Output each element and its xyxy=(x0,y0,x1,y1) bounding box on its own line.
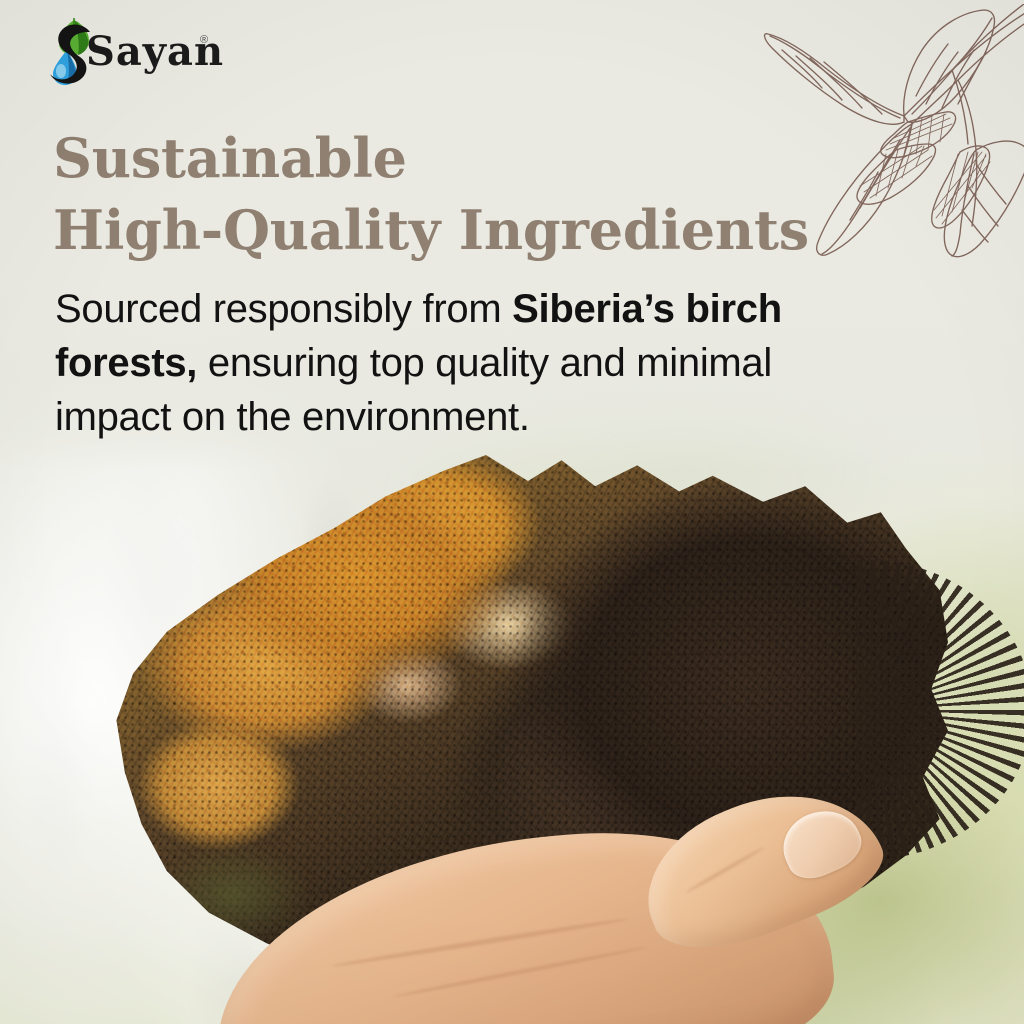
body-text-bold-2: forests, xyxy=(55,341,197,385)
headline-line-1: Sustainable xyxy=(53,122,813,194)
body-text-part-1: Sourced responsibly from xyxy=(55,287,512,331)
body-text-part-2: ensuring top quality and minimal xyxy=(197,341,772,385)
open-hand-icon xyxy=(210,790,950,1024)
promo-card: Sayan ® Sustainable High-Quality Ingredi… xyxy=(0,0,1024,1024)
brand-logo[interactable]: Sayan ® xyxy=(40,16,260,86)
page-title: Sustainable High-Quality Ingredients xyxy=(53,122,813,266)
body-paragraph: Sourced responsibly from Siberia’s birch… xyxy=(55,282,945,444)
body-text-bold-1: Siberia’s birch xyxy=(512,287,782,331)
headline-line-2: High-Quality Ingredients xyxy=(53,194,813,266)
registered-mark: ® xyxy=(200,34,208,46)
